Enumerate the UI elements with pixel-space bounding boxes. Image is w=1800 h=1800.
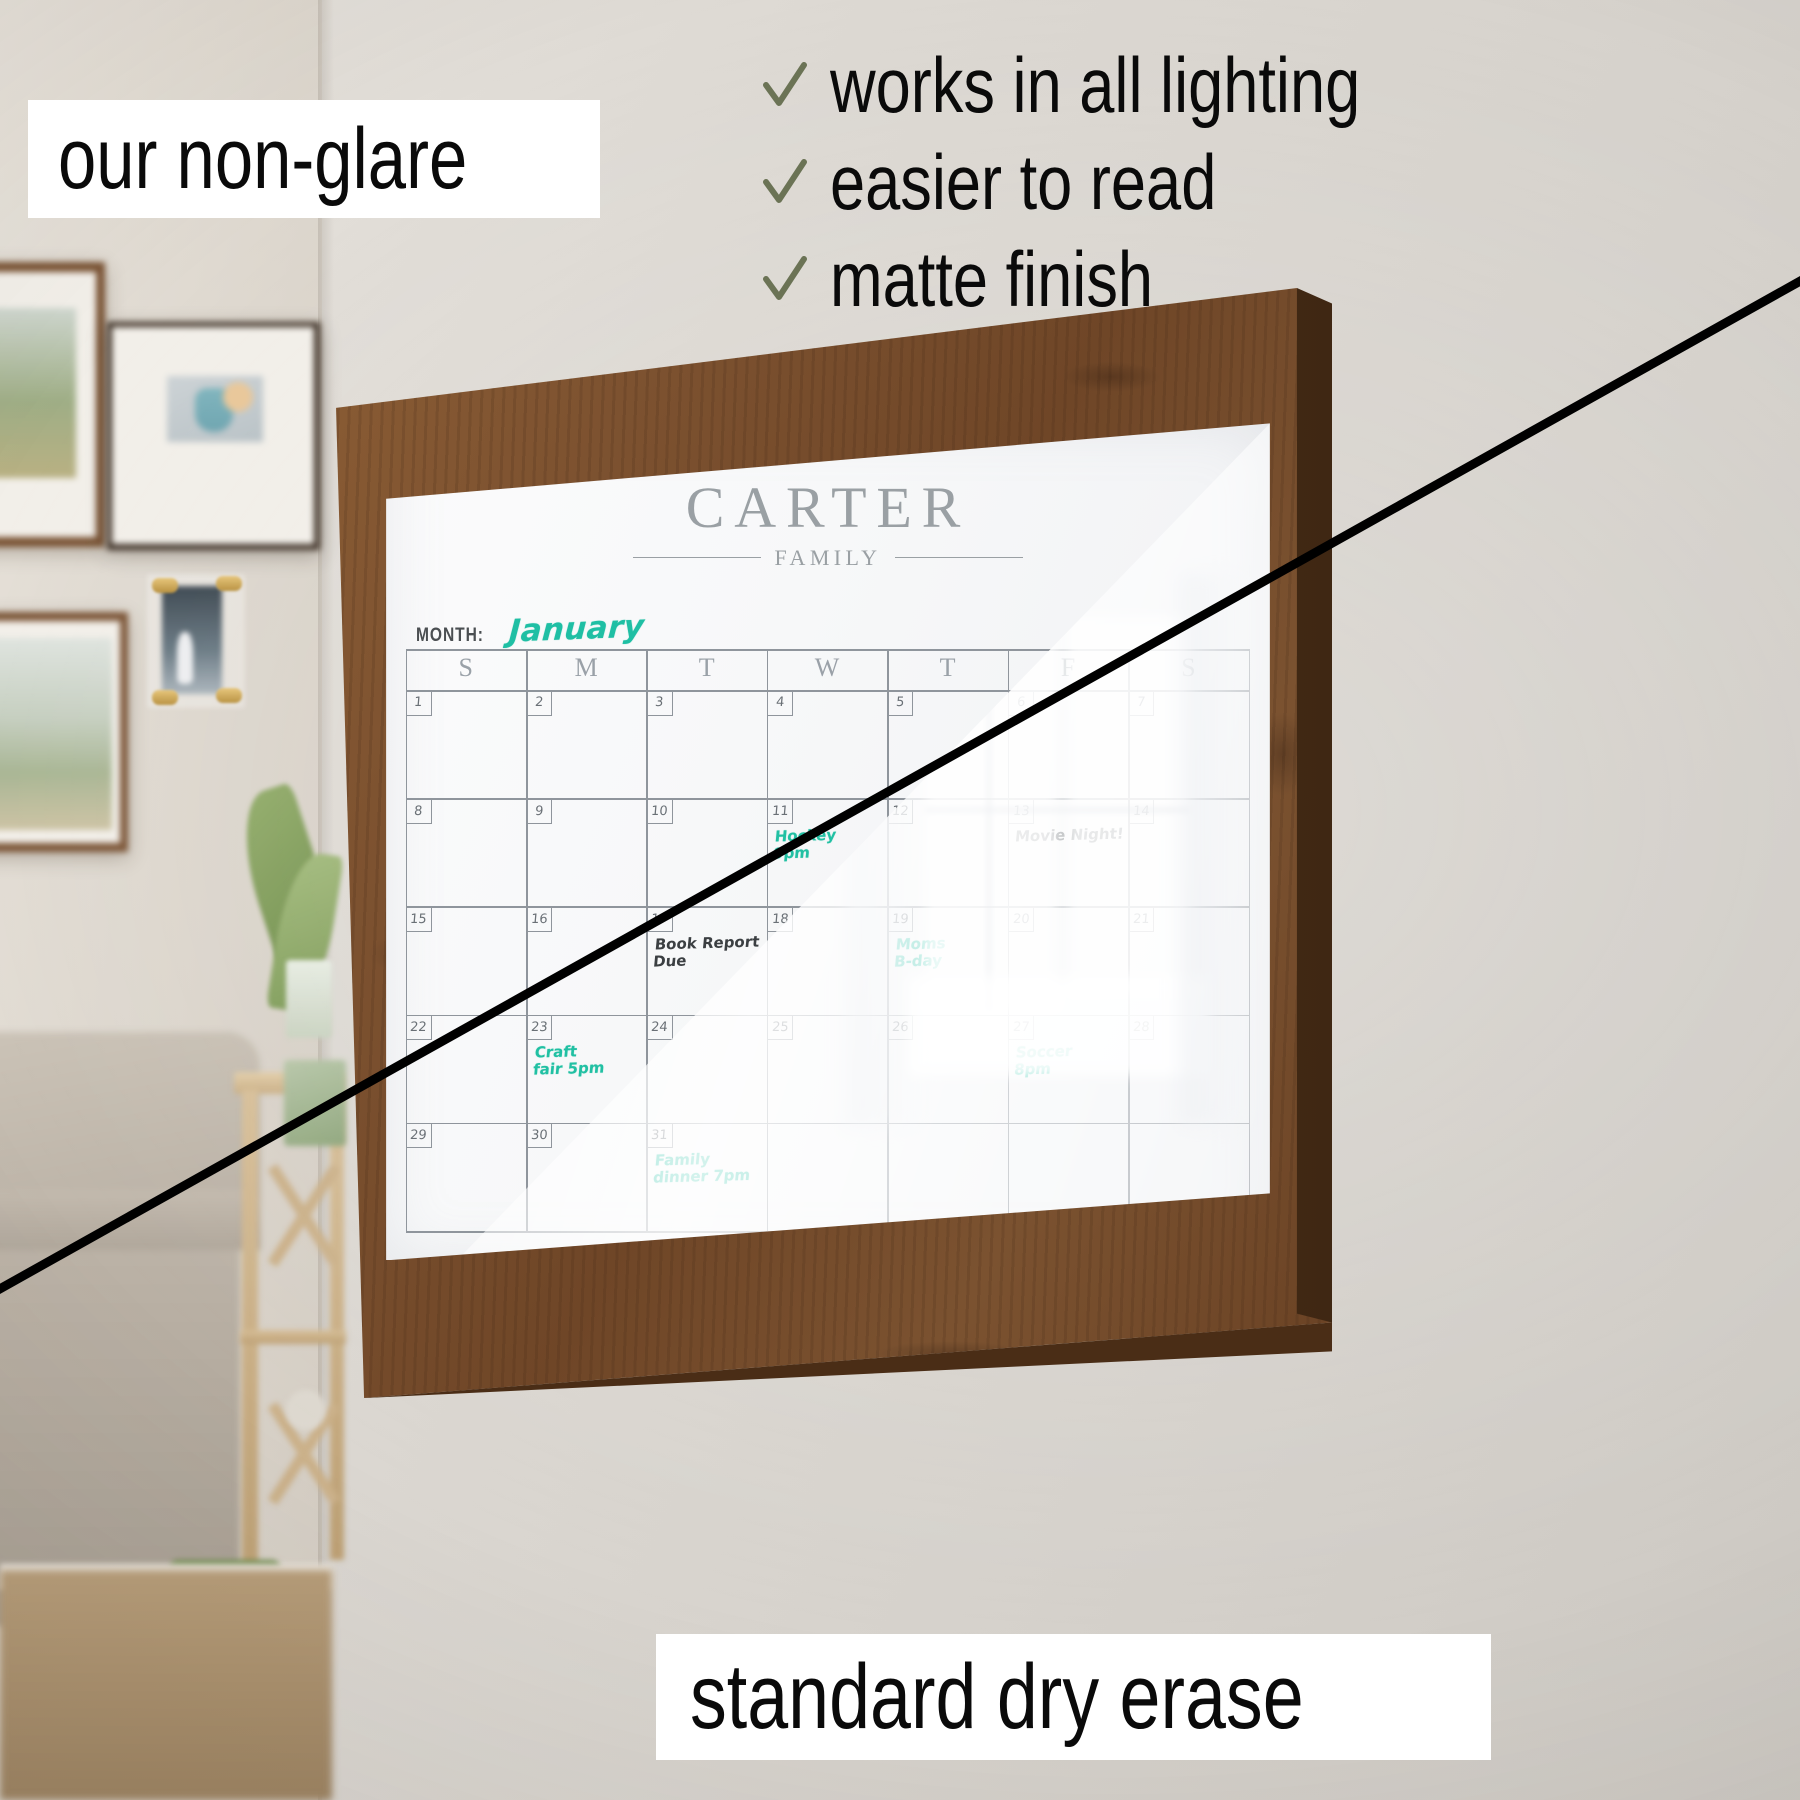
calendar-day-cell[interactable]: 24 (646, 1015, 672, 1041)
calendar-day-cell[interactable]: 30 (526, 1123, 552, 1149)
day-number: 16 (530, 912, 548, 927)
whiteboard-calendar[interactable]: CARTER FAMILY MONTH: January SMTWTFS1234… (330, 288, 1332, 1398)
calendar-day-cell[interactable]: 15 (406, 906, 432, 932)
calendar-day-cell[interactable]: 22 (406, 1015, 432, 1041)
family-subtitle-row: FAMILY (386, 545, 1270, 571)
calendar-day-cell[interactable]: 16 (526, 906, 552, 932)
day-number: 9 (534, 804, 544, 819)
calendar-day-cell[interactable]: 17 (646, 906, 672, 932)
day-header: T (887, 653, 1007, 683)
day-header: S (1128, 653, 1248, 683)
day-number: 6 (1016, 695, 1026, 710)
day-number: 1 (414, 695, 424, 710)
month-label: MONTH: (416, 625, 484, 647)
day-number: 14 (1132, 804, 1150, 819)
day-number: 3 (655, 695, 665, 710)
dry-erase-tag: standard dry erase (656, 1634, 1491, 1760)
calendar-entry[interactable]: Soccer 8pm (1014, 1042, 1127, 1079)
check-icon (762, 154, 808, 212)
calendar-day-cell[interactable]: 29 (406, 1123, 432, 1149)
day-number: 17 (651, 912, 669, 927)
calendar-day-cell[interactable]: 8 (406, 798, 432, 824)
calendar-day-cell[interactable]: 4 (767, 690, 793, 716)
day-number: 25 (771, 1020, 789, 1035)
calendar-entry[interactable]: Craft fair 5pm (532, 1042, 645, 1079)
calendar-day-cell[interactable]: 28 (1128, 1015, 1154, 1041)
feature-item: easier to read (762, 137, 1792, 228)
calendar-day-cell[interactable]: 18 (767, 906, 793, 932)
feature-item: works in all lighting (762, 40, 1792, 131)
grid-line (1008, 649, 1010, 1231)
calendar-entry[interactable]: Hockey 9pm (773, 825, 886, 862)
day-number: 11 (771, 804, 789, 819)
grid-line (406, 649, 1249, 651)
calendar-day-cell[interactable]: 1 (406, 690, 432, 716)
board-surface[interactable]: CARTER FAMILY MONTH: January SMTWTFS1234… (386, 423, 1270, 1260)
calendar-day-cell[interactable]: 6 (1008, 690, 1034, 716)
calendar-entry[interactable]: Moms B-day (893, 933, 1006, 970)
calendar-day-cell[interactable]: 10 (646, 798, 672, 824)
calendar-day-cell[interactable]: 5 (887, 690, 913, 716)
day-header: F (1008, 653, 1128, 683)
day-number: 10 (651, 804, 669, 819)
day-number: 8 (414, 804, 424, 819)
board-header: CARTER FAMILY (386, 474, 1270, 571)
check-icon (762, 251, 808, 309)
calendar-day-cell[interactable]: 14 (1128, 798, 1154, 824)
grid-line (1128, 649, 1130, 1231)
family-subtitle: FAMILY (775, 545, 882, 571)
day-number: 13 (1012, 804, 1030, 819)
calendar-entry[interactable]: Movie Night! (1015, 825, 1127, 845)
month-row[interactable]: MONTH: January (416, 611, 644, 647)
day-number: 2 (534, 695, 544, 710)
calendar-day-cell[interactable]: 25 (767, 1015, 793, 1041)
calendar-day-cell[interactable]: 13 (1008, 798, 1034, 824)
day-header: W (767, 653, 887, 683)
day-header: T (646, 653, 766, 683)
feature-label: works in all lighting (830, 40, 1360, 131)
calendar-day-cell[interactable]: 11 (767, 798, 793, 824)
calendar-grid[interactable]: SMTWTFS123456789101112131415161718192021… (406, 649, 1249, 1231)
grid-line (767, 649, 769, 1231)
day-number: 15 (410, 912, 428, 927)
day-number: 24 (651, 1020, 669, 1035)
calendar-day-cell[interactable]: 31 (646, 1123, 672, 1149)
grid-line (887, 649, 889, 1231)
calendar-day-cell[interactable]: 2 (526, 690, 552, 716)
calendar-day-cell[interactable]: 21 (1128, 906, 1154, 932)
calendar-day-cell[interactable]: 27 (1008, 1015, 1034, 1041)
day-number: 23 (530, 1020, 548, 1035)
day-number: 18 (771, 912, 789, 927)
day-number: 22 (410, 1020, 428, 1035)
calendar-day-cell[interactable]: 12 (887, 798, 913, 824)
header-rule-right (895, 557, 1023, 558)
day-number: 30 (530, 1128, 548, 1143)
day-number: 31 (651, 1128, 669, 1143)
non-glare-tag: our non-glare (28, 100, 600, 218)
day-number: 5 (896, 695, 906, 710)
day-number: 28 (1132, 1020, 1150, 1035)
day-number: 12 (891, 804, 909, 819)
day-number: 21 (1132, 912, 1150, 927)
feature-list: works in all lighting easier to read mat… (762, 40, 1792, 331)
day-header: M (526, 653, 646, 683)
feature-item: matte finish (762, 234, 1792, 325)
calendar-entry[interactable]: Family dinner 7pm (652, 1150, 765, 1187)
day-number: 20 (1012, 912, 1030, 927)
non-glare-tag-label: our non-glare (58, 110, 467, 209)
day-number: 7 (1136, 695, 1146, 710)
day-number: 19 (891, 912, 909, 927)
header-rule-left (633, 557, 761, 558)
calendar-day-cell[interactable]: 7 (1128, 690, 1154, 716)
calendar-day-cell[interactable]: 26 (887, 1015, 913, 1041)
feature-label: easier to read (830, 137, 1216, 228)
day-number: 4 (775, 695, 785, 710)
calendar-day-cell[interactable]: 19 (887, 906, 913, 932)
day-number: 26 (891, 1020, 909, 1035)
grid-line (1249, 649, 1251, 1231)
calendar-day-cell[interactable]: 9 (526, 798, 552, 824)
dry-erase-tag-label: standard dry erase (690, 1645, 1304, 1750)
calendar-day-cell[interactable]: 20 (1008, 906, 1034, 932)
day-header: S (406, 653, 526, 683)
check-icon (762, 57, 808, 115)
calendar-entry[interactable]: Book Report Due (652, 933, 765, 970)
day-number: 27 (1012, 1020, 1030, 1035)
feature-label: matte finish (830, 234, 1153, 325)
day-number: 29 (410, 1128, 428, 1143)
calendar-day-cell[interactable]: 23 (526, 1015, 552, 1041)
calendar-day-cell[interactable]: 3 (646, 690, 672, 716)
month-value[interactable]: January (508, 608, 645, 649)
